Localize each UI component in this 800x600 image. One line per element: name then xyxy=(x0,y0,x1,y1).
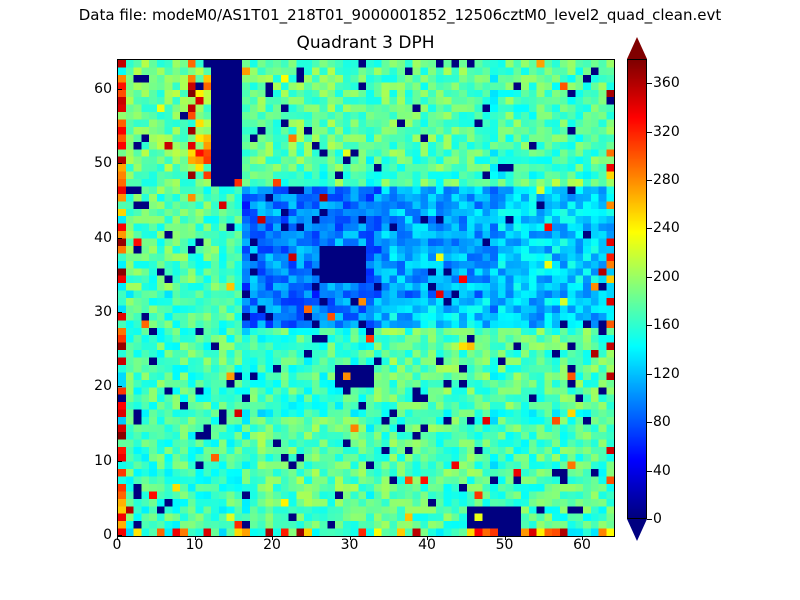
colorbar-tick-label: 40 xyxy=(653,463,671,479)
x-tick-mark xyxy=(272,536,273,540)
x-tick-mark xyxy=(582,536,583,540)
y-tick-mark xyxy=(118,238,122,239)
y-tick-label: 10 xyxy=(94,453,112,469)
colorbar-tick-mark xyxy=(647,519,652,520)
dph-heatmap-axes xyxy=(117,59,615,537)
colorbar-tick-label: 320 xyxy=(653,124,680,140)
y-tick-mark xyxy=(118,535,122,536)
axes-title: Quadrant 3 DPH xyxy=(117,33,614,53)
y-tick-mark xyxy=(118,461,122,462)
colorbar-tick-label: 240 xyxy=(653,220,680,236)
x-tick-mark xyxy=(427,536,428,540)
colorbar-tick-label: 120 xyxy=(653,366,680,382)
colorbar-tick-label: 200 xyxy=(653,269,680,285)
y-tick-mark xyxy=(118,89,122,90)
colorbar-tick-mark xyxy=(647,325,652,326)
colorbar-tick-label: 0 xyxy=(653,511,662,527)
colorbar-under-arrow-icon xyxy=(627,519,647,541)
colorbar-tick-mark xyxy=(647,83,652,84)
figure-suptitle: Data file: modeM0/AS1T01_218T01_90000018… xyxy=(0,6,800,24)
x-tick-mark xyxy=(117,536,118,540)
matplotlib-figure: Data file: modeM0/AS1T01_218T01_90000018… xyxy=(0,0,800,600)
y-tick-mark xyxy=(118,386,122,387)
y-tick-label: 40 xyxy=(94,230,112,246)
colorbar-tick-mark xyxy=(647,277,652,278)
y-tick-mark xyxy=(118,312,122,313)
y-tick-label: 30 xyxy=(94,304,112,320)
colorbar-tick-mark xyxy=(647,422,652,423)
y-axis-tick-labels: 0102030405060 xyxy=(70,0,112,600)
y-tick-label: 0 xyxy=(103,527,112,543)
colorbar-tick-mark xyxy=(647,471,652,472)
y-tick-mark xyxy=(118,163,122,164)
x-tick-mark xyxy=(350,536,351,540)
dph-heatmap-image xyxy=(118,60,614,536)
colorbar: 04080120160200240280320360 xyxy=(627,59,647,519)
colorbar-over-arrow-icon xyxy=(627,37,647,59)
y-tick-label: 60 xyxy=(94,81,112,97)
colorbar-gradient xyxy=(627,59,647,519)
colorbar-tick-mark xyxy=(647,228,652,229)
colorbar-tick-label: 360 xyxy=(653,75,680,91)
x-tick-mark xyxy=(505,536,506,540)
x-tick-mark xyxy=(195,536,196,540)
colorbar-tick-mark xyxy=(647,374,652,375)
colorbar-tick-label: 280 xyxy=(653,172,680,188)
colorbar-tick-mark xyxy=(647,180,652,181)
colorbar-tick-label: 80 xyxy=(653,414,671,430)
y-tick-label: 50 xyxy=(94,155,112,171)
colorbar-tick-label: 160 xyxy=(653,317,680,333)
y-tick-label: 20 xyxy=(94,378,112,394)
colorbar-tick-mark xyxy=(647,132,652,133)
